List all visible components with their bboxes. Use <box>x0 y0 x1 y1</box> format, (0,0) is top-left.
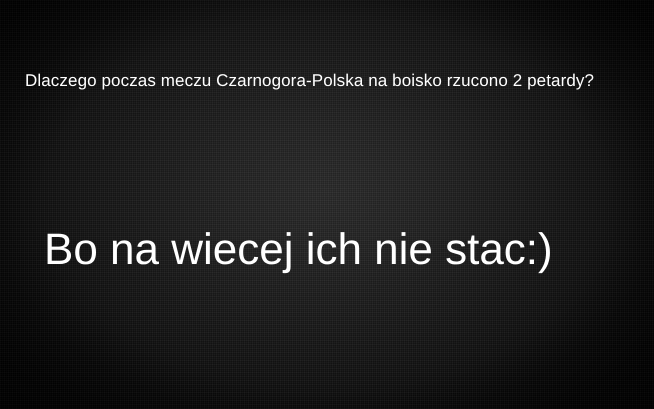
question-text: Dlaczego poczas meczu Czarnogora-Polska … <box>25 70 629 92</box>
meme-slide: Dlaczego poczas meczu Czarnogora-Polska … <box>0 0 654 409</box>
carbon-texture-overlay <box>0 0 654 409</box>
punchline-text: Bo na wiecej ich nie stac:) <box>44 224 610 276</box>
vignette-overlay <box>0 0 654 409</box>
